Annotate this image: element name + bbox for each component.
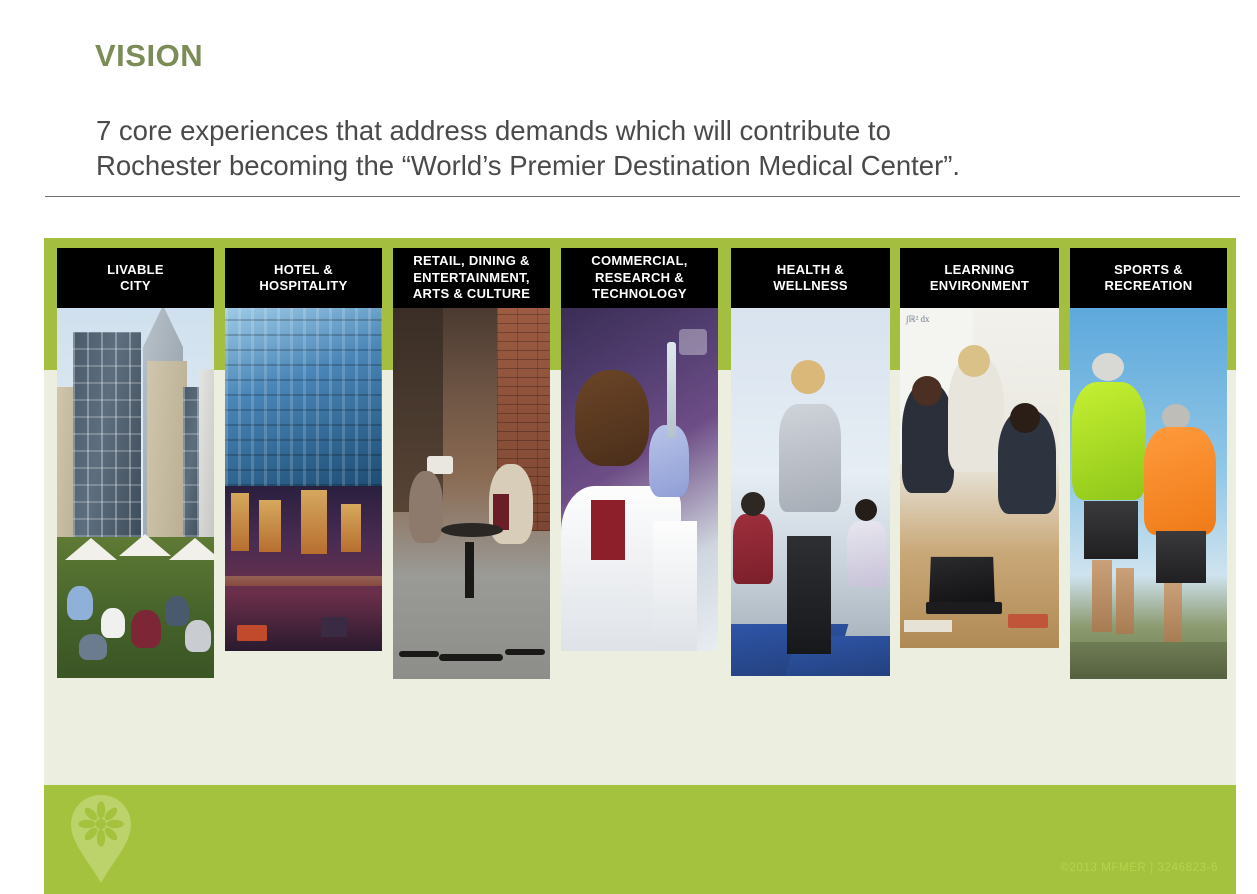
column-header-label: HEALTH & WELLNESS (731, 248, 890, 308)
experience-column-commercial-research[interactable]: COMMERCIAL, RESEARCH & TECHNOLOGY (561, 248, 718, 651)
experience-columns: LIVABLE CITY (44, 238, 1236, 785)
photo-lab-scene (561, 308, 718, 651)
footer-bar: ©2013 MFMER | 3246823-6 (44, 785, 1236, 894)
photo-cafe-scene (393, 308, 550, 679)
experience-column-hotel-hospitality[interactable]: HOTEL & HOSPITALITY (225, 248, 382, 651)
photo-running-scene (1070, 308, 1227, 679)
column-photo-hotel-hospitality (225, 308, 382, 651)
experience-column-learning-environment[interactable]: LEARNING ENVIRONMENT ∫ℝ² dx (900, 248, 1059, 648)
photo-city-scene (57, 308, 214, 678)
column-photo-sports-recreation (1070, 308, 1227, 679)
experience-column-livable-city[interactable]: LIVABLE CITY (57, 248, 214, 678)
column-header-label: HOTEL & HOSPITALITY (225, 248, 382, 308)
slide-canvas: VISION 7 core experiences that address d… (0, 0, 1257, 894)
experience-column-sports-recreation[interactable]: SPORTS & RECREATION (1070, 248, 1227, 679)
mayo-pin-flower-icon (66, 793, 136, 885)
photo-yoga-scene (731, 308, 890, 676)
experience-column-retail-dining[interactable]: RETAIL, DINING & ENTERTAINMENT, ARTS & C… (393, 248, 550, 679)
title-divider (45, 196, 1240, 197)
photo-learning-scene: ∫ℝ² dx (900, 308, 1059, 648)
photo-hotel-scene (225, 308, 382, 651)
column-header-label: RETAIL, DINING & ENTERTAINMENT, ARTS & C… (393, 248, 550, 308)
column-header-label: LEARNING ENVIRONMENT (900, 248, 1059, 308)
copyright-credit: ©2013 MFMER | 3246823-6 (1060, 862, 1218, 874)
page-subtitle: 7 core experiences that address demands … (96, 113, 1236, 183)
column-header-label: LIVABLE CITY (57, 248, 214, 308)
column-photo-health-wellness (731, 308, 890, 676)
column-header-label: COMMERCIAL, RESEARCH & TECHNOLOGY (561, 248, 718, 308)
content-panel: LIVABLE CITY (44, 238, 1236, 785)
column-photo-retail-dining (393, 308, 550, 679)
column-header-label: SPORTS & RECREATION (1070, 248, 1227, 308)
experience-column-health-wellness[interactable]: HEALTH & WELLNESS (731, 248, 890, 676)
column-photo-commercial-research (561, 308, 718, 651)
column-photo-learning-environment: ∫ℝ² dx (900, 308, 1059, 648)
page-title: VISION (95, 38, 203, 74)
column-photo-livable-city (57, 308, 214, 678)
